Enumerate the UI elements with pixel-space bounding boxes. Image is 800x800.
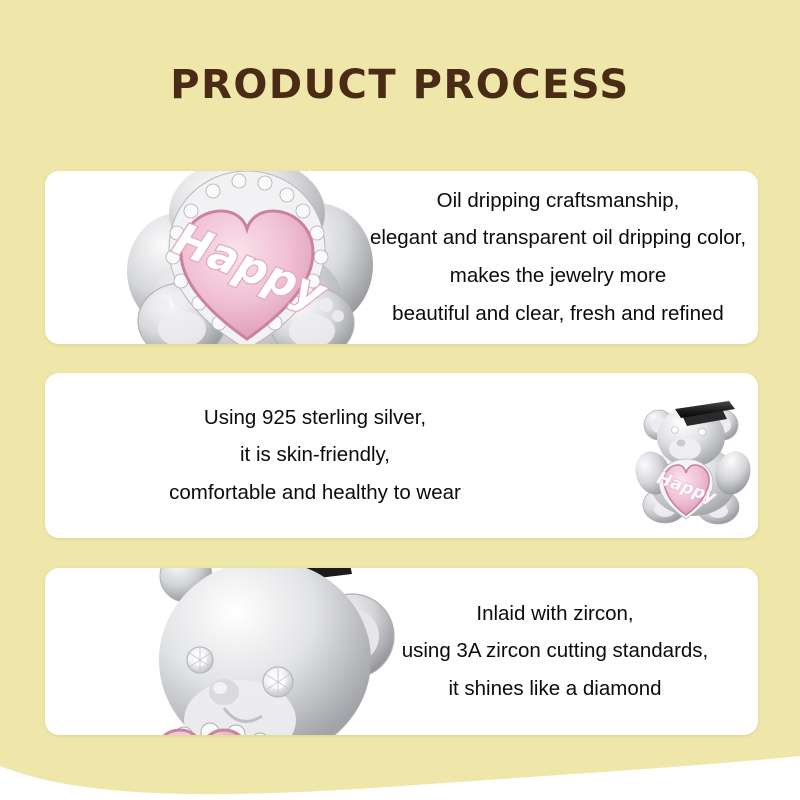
card-2-line-2: it is skin-friendly,: [65, 437, 565, 475]
card-3-line-3: it shines like a diamond: [345, 670, 758, 708]
zircon-eye-left: [187, 647, 213, 673]
page-title: PRODUCT PROCESS: [0, 62, 800, 108]
card-3-line-1: Inlaid with zircon,: [345, 595, 758, 633]
heart-happy-label: Happy: [149, 734, 264, 735]
heart-happy-label: Happy: [654, 468, 719, 508]
heart-happy-label: Happy: [167, 214, 335, 321]
card-1-text: Oil dripping craftsmanship, elegant and …: [363, 182, 753, 334]
card-1-line-3: makes the jewelry more: [363, 258, 753, 296]
infographic-page: PRODUCT PROCESS: [0, 0, 800, 800]
card-3-text: Inlaid with zircon, using 3A zircon cutt…: [345, 595, 758, 709]
card-1-line-4: beautiful and clear, fresh and refined: [363, 295, 753, 333]
process-card-3: Happy Inlaid with zircon, using 3A zirco…: [45, 568, 758, 735]
zircon-eye-right: [263, 667, 293, 697]
card-2-line-3: comfortable and healthy to wear: [65, 474, 565, 512]
card-1-line-2: elegant and transparent oil dripping col…: [363, 220, 753, 258]
teddy-bear-charm-heart-closeup-image: Happy: [107, 171, 377, 344]
card-2-line-1: Using 925 sterling silver,: [65, 399, 565, 437]
process-card-1: Happy Oil dripping craftsmanship, elegan…: [45, 171, 758, 344]
teddy-bear-charm-full-image: Happy: [623, 385, 758, 535]
card-3-line-2: using 3A zircon cutting standards,: [345, 633, 758, 671]
card-2-text: Using 925 sterling silver, it is skin-fr…: [65, 399, 565, 513]
process-card-2: Happy Using 925 sterling silver, it is s…: [45, 373, 758, 538]
card-1-line-1: Oil dripping craftsmanship,: [363, 182, 753, 220]
